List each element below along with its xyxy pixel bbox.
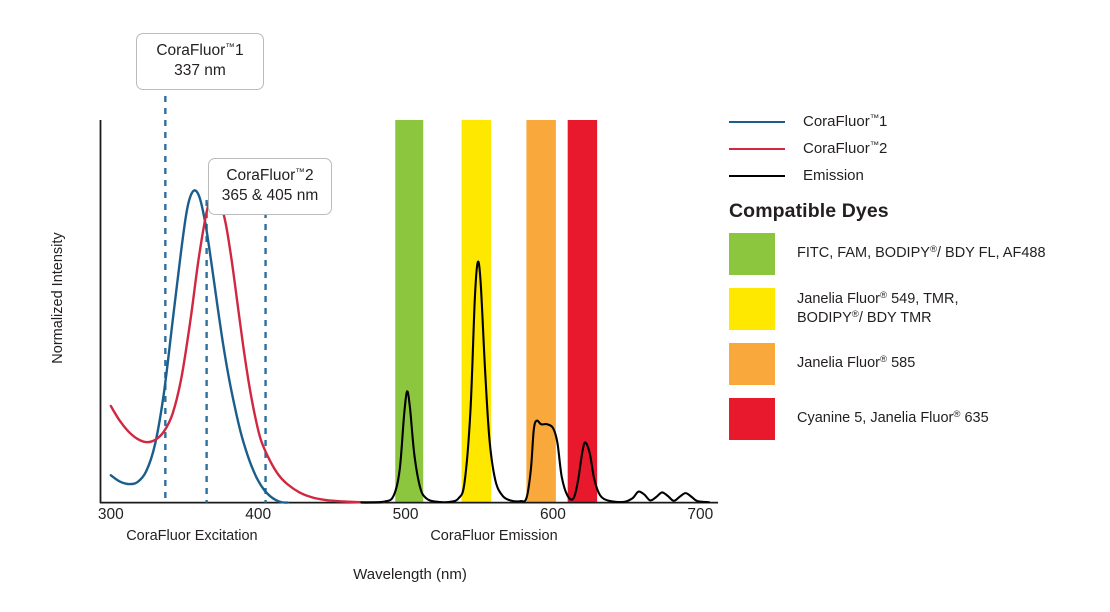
green-band [395, 120, 423, 503]
legend-item-1: CoraFluor™2 [729, 135, 1089, 162]
x-tick-500: 500 [383, 506, 429, 524]
dye-item-1: Janelia Fluor® 549, TMR,BODIPY®/ BDY TMR [729, 288, 1099, 330]
x-tick-300: 300 [88, 506, 134, 524]
dye-label: Janelia Fluor® 585 [797, 354, 915, 373]
legend-line-swatch [729, 121, 785, 123]
dye-label: Cyanine 5, Janelia Fluor® 635 [797, 409, 989, 428]
emission-bands [395, 120, 597, 503]
legend-item-0: CoraFluor™1 [729, 108, 1089, 135]
dye-item-0: FITC, FAM, BODIPY®/ BDY FL, AF488 [729, 233, 1099, 275]
registered-symbol: ® [930, 245, 937, 256]
dye-item-2: Janelia Fluor® 585 [729, 343, 1099, 385]
callout-cf2-line1: CoraFluor™2 [221, 166, 319, 186]
callout-cf2-line2: 365 & 405 nm [221, 186, 319, 206]
dye-color-swatch [729, 288, 775, 330]
x-tick-600: 600 [530, 506, 576, 524]
registered-symbol: ® [953, 410, 960, 421]
yellow-band [462, 120, 491, 503]
dye-color-swatch [729, 398, 775, 440]
dye-label: Janelia Fluor® 549, TMR,BODIPY®/ BDY TMR [797, 290, 959, 329]
dye-label-line: Cyanine 5, Janelia Fluor® 635 [797, 409, 989, 428]
dye-label-line: Janelia Fluor® 549, TMR, [797, 290, 959, 309]
legend-line-swatch [729, 175, 785, 177]
x-axis-title: Wavelength (nm) [0, 566, 820, 583]
dye-color-swatch [729, 233, 775, 275]
callout-corafluor1: CoraFluor™1 337 nm [136, 33, 264, 90]
legend-label: Emission [803, 167, 864, 184]
registered-symbol: ® [880, 290, 887, 301]
legend-label: CoraFluor™1 [803, 113, 887, 130]
curve-series-0 [111, 190, 288, 502]
legend-label: CoraFluor™2 [803, 140, 887, 157]
fluorescence-spectra-figure: CoraFluor™1 337 nm CoraFluor™2 365 & 405… [0, 0, 1110, 612]
callout-cf1-line1: CoraFluor™1 [149, 41, 251, 61]
red-band [568, 120, 597, 503]
callout-corafluor2: CoraFluor™2 365 & 405 nm [208, 158, 332, 215]
legend-line-swatch [729, 148, 785, 150]
trademark-symbol: ™ [870, 140, 879, 150]
series-legend: CoraFluor™1CoraFluor™2Emission [729, 108, 1089, 189]
x-section-label-0: CoraFluor Excitation [126, 528, 257, 544]
trademark-symbol: ™ [870, 113, 879, 123]
dye-item-3: Cyanine 5, Janelia Fluor® 635 [729, 398, 1099, 440]
x-tick-700: 700 [677, 506, 723, 524]
compatible-dyes-heading: Compatible Dyes [729, 200, 889, 223]
dye-label: FITC, FAM, BODIPY®/ BDY FL, AF488 [797, 244, 1046, 263]
dye-label-line: BODIPY®/ BDY TMR [797, 309, 959, 328]
callout-cf1-line2: 337 nm [149, 61, 251, 81]
orange-band [526, 120, 555, 503]
compatible-dyes-list: FITC, FAM, BODIPY®/ BDY FL, AF488Janelia… [729, 233, 1099, 453]
registered-symbol: ® [880, 355, 887, 366]
x-tick-400: 400 [235, 506, 281, 524]
dye-color-swatch [729, 343, 775, 385]
registered-symbol: ® [852, 309, 859, 320]
x-section-label-1: CoraFluor Emission [430, 528, 557, 544]
dye-label-line: FITC, FAM, BODIPY®/ BDY FL, AF488 [797, 244, 1046, 263]
legend-item-2: Emission [729, 162, 1089, 189]
y-axis-title: Normalized Intensity [50, 208, 66, 388]
dye-label-line: Janelia Fluor® 585 [797, 354, 915, 373]
